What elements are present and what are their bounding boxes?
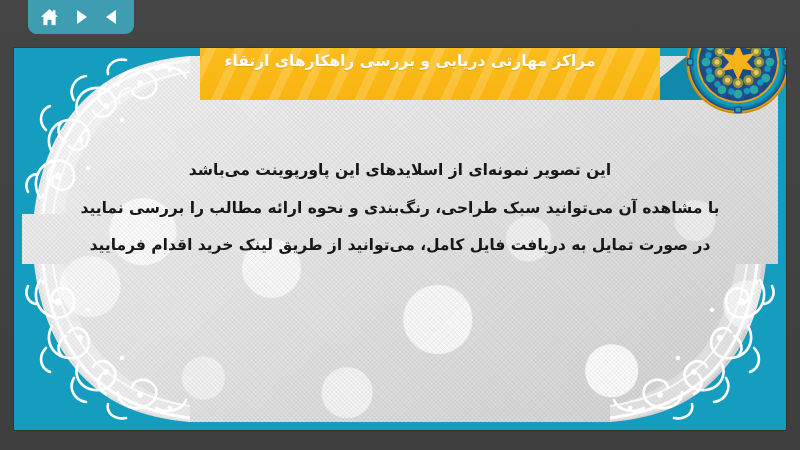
slide-title-banner: تحلیل کامل نقاط ضعف آموزش‌های تخصصی در م… (200, 48, 750, 100)
home-icon (39, 7, 60, 28)
body-line-3: در صورت تمایل به دریافت فایل کامل، می‌تو… (56, 227, 744, 265)
slide-frame: این تصویر نمونه‌ای از اسلایدهای این پاور… (14, 48, 786, 430)
arabesque-corner-ornament-bottom-right (610, 264, 778, 422)
slide-canvas: این تصویر نمونه‌ای از اسلایدهای این پاور… (22, 56, 778, 422)
arabesque-corner-ornament-bottom-left (22, 264, 190, 422)
slide-body-text: این تصویر نمونه‌ای از اسلایدهای این پاور… (56, 152, 744, 265)
triangle-right-icon (71, 7, 91, 27)
previous-slide-button[interactable] (99, 4, 125, 30)
home-slide-button[interactable] (37, 4, 63, 30)
next-slide-button[interactable] (68, 4, 94, 30)
banner-arrow-tail (660, 48, 750, 100)
slide-viewer: این تصویر نمونه‌ای از اسلایدهای این پاور… (0, 0, 800, 450)
navigation-toolbar (28, 0, 134, 34)
body-line-2: با مشاهده آن می‌توانید سبک طراحی، رنگ‌بن… (56, 190, 744, 228)
triangle-left-icon (102, 7, 122, 27)
slide-title: تحلیل کامل نقاط ضعف آموزش‌های تخصصی در م… (200, 48, 660, 72)
banner-body: تحلیل کامل نقاط ضعف آموزش‌های تخصصی در م… (200, 48, 660, 100)
body-line-1: این تصویر نمونه‌ای از اسلایدهای این پاور… (56, 152, 744, 190)
